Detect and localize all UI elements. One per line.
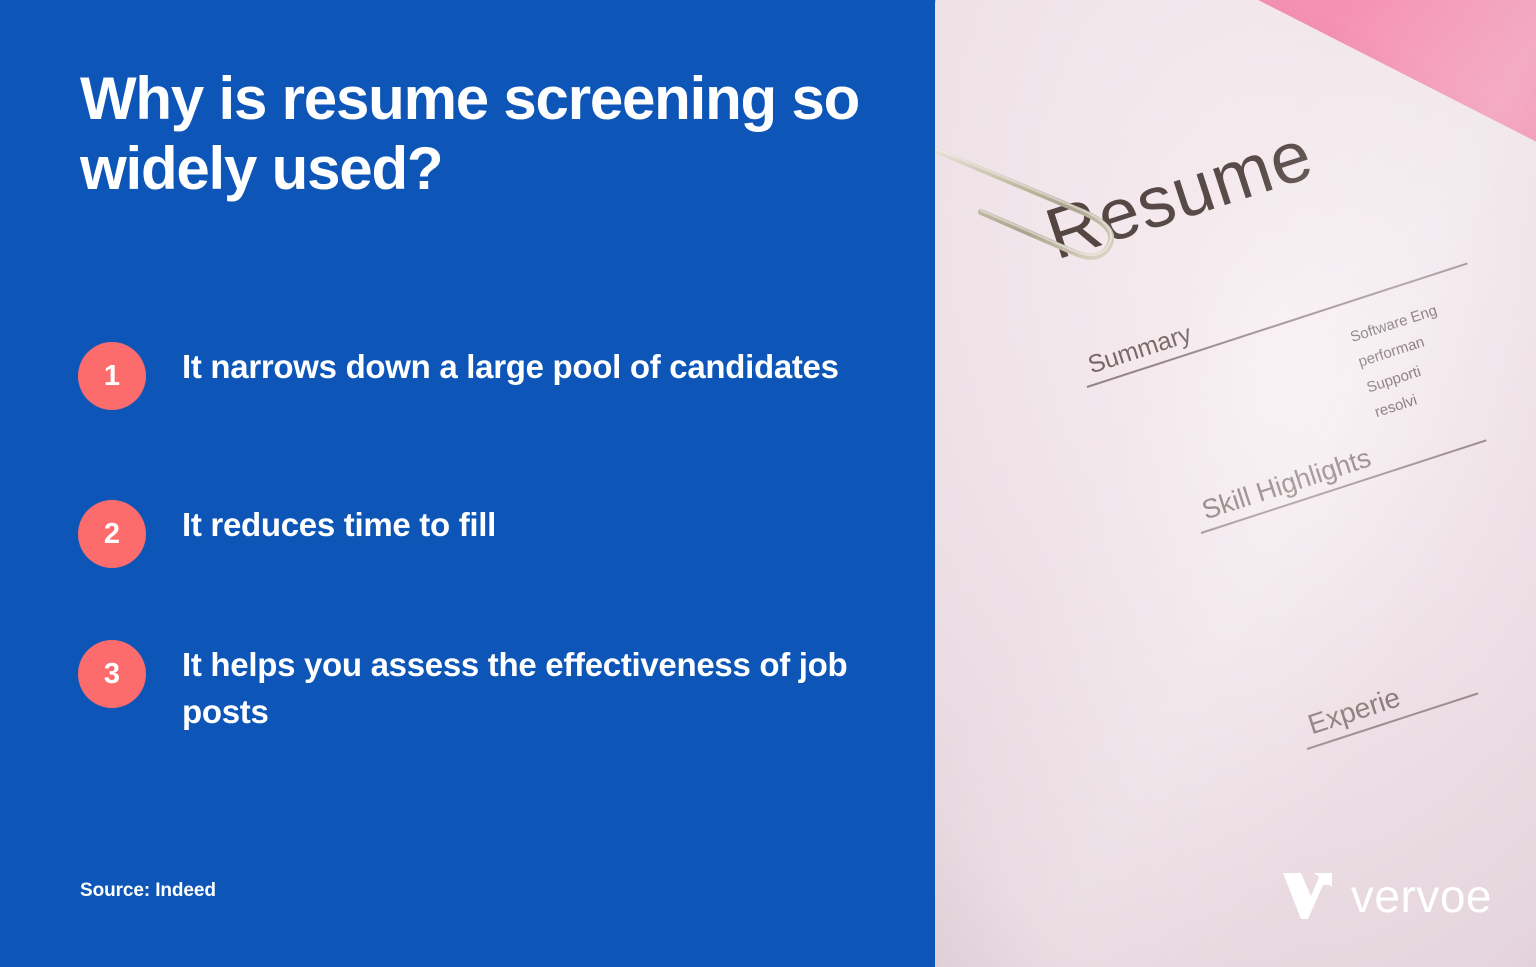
content-panel: Why is resume screening so widely used? … <box>0 0 935 967</box>
list-item: 2 It reduces time to fill <box>78 498 868 568</box>
list-number-badge: 3 <box>78 640 146 708</box>
reasons-list: 1 It narrows down a large pool of candid… <box>78 340 868 736</box>
source-attribution: Source: Indeed <box>80 880 216 902</box>
resume-stack-photo: Resume Summary Skill Highlights Experie … <box>933 0 1536 967</box>
vervoe-v-mark-icon <box>1281 871 1333 921</box>
list-item-text: It narrows down a large pool of candidat… <box>182 340 839 391</box>
list-item: 1 It narrows down a large pool of candid… <box>78 340 868 410</box>
vervoe-wordmark: vervoe <box>1351 873 1492 919</box>
list-item-text: It reduces time to fill <box>182 498 496 549</box>
vervoe-logo: vervoe <box>1281 871 1492 921</box>
list-number-badge: 2 <box>78 500 146 568</box>
paperclip-icon <box>933 120 1163 270</box>
list-item: 3 It helps you assess the effectiveness … <box>78 638 868 736</box>
page-title: Why is resume screening so widely used? <box>80 64 910 204</box>
infographic-canvas: Resume Summary Skill Highlights Experie … <box>0 0 1536 967</box>
spacer <box>78 568 868 638</box>
list-item-text: It helps you assess the effectiveness of… <box>182 638 868 736</box>
list-number-badge: 1 <box>78 342 146 410</box>
spacer <box>78 410 868 498</box>
